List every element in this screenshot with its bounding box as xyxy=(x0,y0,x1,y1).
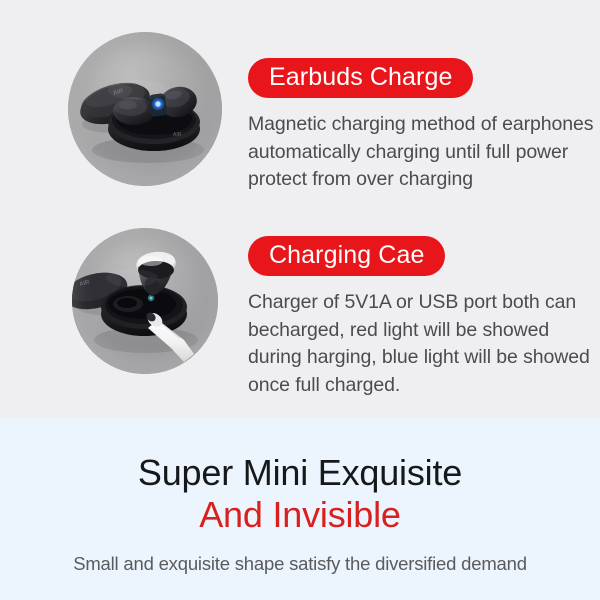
svg-text:AIR: AIR xyxy=(173,132,182,138)
banner-subtitle: Small and exquisite shape satisfy the di… xyxy=(0,553,600,575)
banner-headline-line2: And Invisible xyxy=(0,495,600,535)
body-line: becharged, red light will be showed xyxy=(248,317,594,345)
feature-body-charging-case: Charger of 5V1A or USB port both can bec… xyxy=(248,289,594,400)
body-line: Magnetic charging method of earphones xyxy=(248,111,594,139)
charging-case-usb-cable-photo: AIR xyxy=(72,228,218,374)
feature-badge-charging-case: Charging Cae xyxy=(248,236,445,276)
case-body xyxy=(101,285,187,336)
feature-copy-earbuds-charge: Earbuds Charge Magnetic charging method … xyxy=(248,58,594,194)
feature-body-earbuds-charge: Magnetic charging method of earphones au… xyxy=(248,111,594,194)
body-line: protect from over charging xyxy=(248,166,594,194)
earbud-left xyxy=(113,97,155,125)
charging-case-cable-illustration: AIR xyxy=(72,228,218,374)
features-section: AIR AIR xyxy=(0,0,600,418)
product-feature-page: AIR AIR xyxy=(0,0,600,600)
body-line: Charger of 5V1A or USB port both can xyxy=(248,289,594,317)
earbuds-charging-case-photo: AIR AIR xyxy=(68,32,222,186)
body-line: during harging, blue light will be showe… xyxy=(248,344,594,372)
bottom-banner: Super Mini Exquisite And Invisible Small… xyxy=(0,418,600,600)
feature-copy-charging-case: Charging Cae Charger of 5V1A or USB port… xyxy=(248,236,594,400)
body-line: once full charged. xyxy=(248,372,594,400)
feature-badge-earbuds-charge: Earbuds Charge xyxy=(248,58,473,98)
banner-headline-line1: Super Mini Exquisite xyxy=(0,453,600,493)
earbuds-case-illustration: AIR AIR xyxy=(68,32,222,186)
body-line: automatically charging until full power xyxy=(248,139,594,167)
